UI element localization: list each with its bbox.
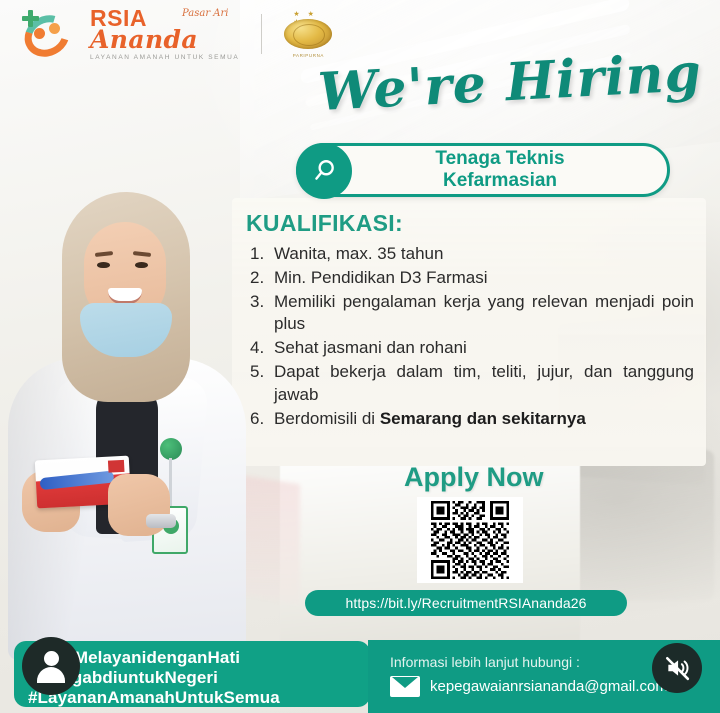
qualification-emphasis: Semarang dan sekitarnya bbox=[380, 409, 586, 428]
envelope-icon bbox=[390, 676, 420, 697]
qualification-item: Memiliki pengalaman kerja yang relevan m… bbox=[246, 291, 694, 335]
qualification-text: Berdomisili di bbox=[274, 409, 380, 428]
seal-caption: PARIPURNA bbox=[293, 53, 324, 58]
user-avatar-icon[interactable] bbox=[22, 637, 80, 695]
rsia-ananda-logo-icon bbox=[22, 10, 74, 58]
qualification-item: Wanita, max. 35 tahun bbox=[246, 243, 694, 265]
gold-seal-icon: ★ ★ ★ ★ ★ PARIPURNA bbox=[278, 10, 338, 58]
position-title-line1: Tenaga Teknis bbox=[343, 148, 657, 170]
qualification-text: Min. Pendidikan D3 Farmasi bbox=[274, 268, 488, 287]
qualification-text: Wanita, max. 35 tahun bbox=[274, 244, 443, 263]
apply-now-label: Apply Now bbox=[404, 462, 544, 493]
position-title-line2: Kefarmasian bbox=[343, 170, 657, 192]
brand-tagline: LAYANAN AMANAH UNTUK SEMUA bbox=[90, 55, 239, 62]
medical-cross-icon bbox=[22, 10, 39, 27]
apply-url-text: https://bit.ly/RecruitmentRSIAnanda26 bbox=[345, 595, 586, 611]
position-title-pill: Tenaga Teknis Kefarmasian bbox=[296, 143, 670, 197]
brand-wordmark: RSIA Ananda Pasar Ari LAYANAN AMANAH UNT… bbox=[90, 7, 239, 62]
qualifications-heading: KUALIFIKASI: bbox=[246, 210, 694, 237]
qualification-item: Min. Pendidikan D3 Farmasi bbox=[246, 267, 694, 289]
position-title: Tenaga Teknis Kefarmasian bbox=[299, 148, 667, 192]
qualification-text: Memiliki pengalaman kerja yang relevan m… bbox=[274, 292, 694, 333]
qualification-item: Dapat bekerja dalam tim, teliti, jujur, … bbox=[246, 361, 694, 405]
qualification-item: Berdomisili di Semarang dan sekitarnya bbox=[246, 408, 694, 430]
hashtag-3: #LayananAmanahUntukSemua bbox=[28, 688, 370, 708]
qualifications-panel: KUALIFIKASI: Wanita, max. 35 tahunMin. P… bbox=[232, 198, 706, 466]
qr-code-icon[interactable] bbox=[417, 497, 523, 583]
badge-reel bbox=[160, 438, 182, 460]
qualification-text: Sehat jasmani dan rohani bbox=[274, 338, 467, 357]
logo-divider bbox=[261, 14, 262, 54]
pharmacist-photo bbox=[0, 170, 250, 660]
wristwatch bbox=[146, 514, 176, 528]
speaker-muted-icon[interactable] bbox=[652, 643, 702, 693]
qualification-item: Sehat jasmani dan rohani bbox=[246, 337, 694, 359]
search-icon bbox=[296, 143, 352, 199]
recruitment-poster: RSIA Ananda Pasar Ari LAYANAN AMANAH UNT… bbox=[0, 0, 720, 713]
brand-name-suffix: Pasar Ari bbox=[182, 9, 229, 19]
contact-email: kepegawaianrsiananda@gmail.com bbox=[430, 678, 668, 695]
qualifications-list: Wanita, max. 35 tahunMin. Pendidikan D3 … bbox=[246, 243, 694, 430]
apply-url-pill[interactable]: https://bit.ly/RecruitmentRSIAnanda26 bbox=[305, 590, 627, 616]
qualification-text: Dapat bekerja dalam tim, teliti, jujur, … bbox=[274, 362, 694, 403]
brand-name-line2: Ananda bbox=[90, 27, 239, 52]
